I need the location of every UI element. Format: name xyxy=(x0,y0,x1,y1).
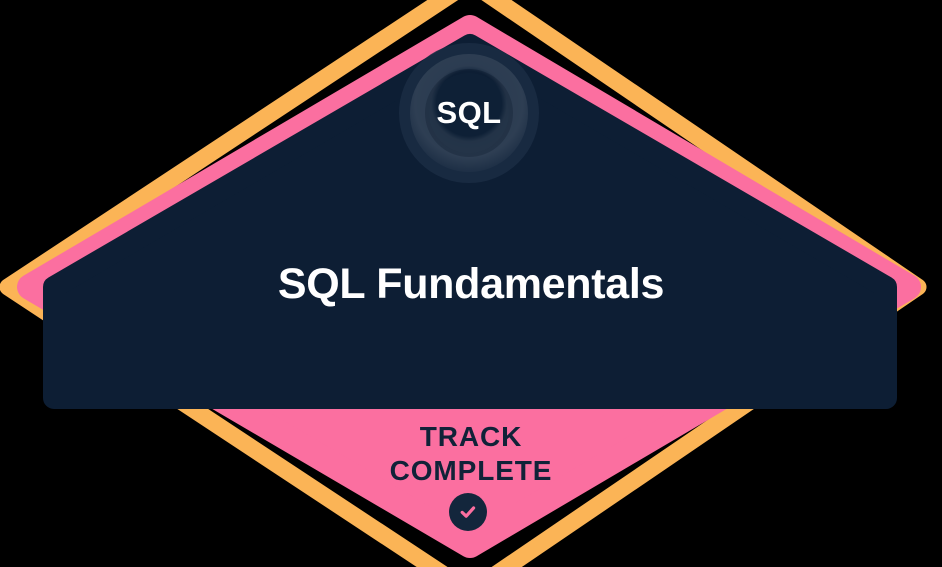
sql-emblem-label: SQL xyxy=(437,97,502,128)
navy-panel-bottom-edge xyxy=(54,330,886,398)
check-badge xyxy=(449,493,487,531)
track-badge-card: SQL SQL Fundamentals TRACK COMPLETE xyxy=(0,0,942,567)
sql-emblem[interactable]: SQL xyxy=(410,54,528,172)
check-mark-icon xyxy=(457,501,479,523)
